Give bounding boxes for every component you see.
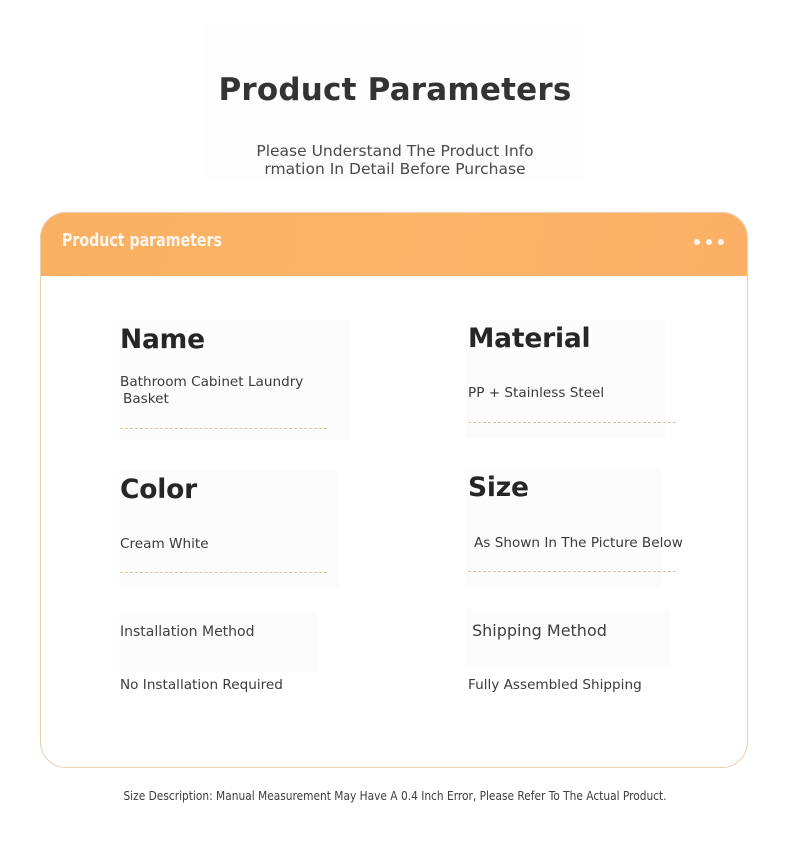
parameter-material-label: Material — [468, 323, 718, 354]
dot-3 — [718, 239, 724, 245]
parameter-installation-method-value-line-1: No Installation Required — [120, 677, 283, 693]
parameter-size-label: Size — [468, 472, 728, 503]
product-parameters-card: Product parameters Name Bathroom Cabinet… — [40, 212, 748, 768]
parameter-name-divider — [120, 428, 327, 429]
parameter-material-value-line-1: PP + Stainless Steel — [468, 385, 604, 401]
parameter-color-divider — [120, 572, 327, 573]
parameter-name-value-line-1: Bathroom Cabinet Laundry — [120, 374, 303, 390]
parameter-installation-method: Installation Method No Installation Requ… — [120, 624, 400, 694]
page-subtitle: Please Understand The Product Info rmati… — [0, 142, 790, 178]
parameter-name-label: Name — [120, 324, 390, 355]
page-title: Product Parameters — [0, 72, 790, 108]
parameter-color-value: Cream White — [120, 536, 390, 553]
parameter-installation-method-label: Installation Method — [120, 624, 400, 640]
parameter-name: Name Bathroom Cabinet Laundry Basket — [120, 324, 390, 429]
parameter-size: Size As Shown In The Picture Below — [468, 472, 728, 572]
dot-2 — [706, 239, 712, 245]
parameter-color-value-line-1: Cream White — [120, 536, 209, 552]
parameter-material-value: PP + Stainless Steel — [468, 385, 718, 402]
parameter-name-value: Bathroom Cabinet Laundry Basket — [120, 374, 390, 408]
parameter-color: Color Cream White — [120, 474, 390, 573]
parameter-installation-method-value: No Installation Required — [120, 677, 400, 694]
parameter-shipping-method-value: Fully Assembled Shipping — [468, 677, 748, 694]
parameter-material: Material PP + Stainless Steel — [468, 323, 718, 423]
parameter-name-value-line-2: Basket — [120, 391, 390, 408]
parameter-shipping-method: Shipping Method Fully Assembled Shipping — [468, 621, 748, 694]
dot-1 — [694, 239, 700, 245]
parameter-grid: Name Bathroom Cabinet Laundry Basket Mat… — [40, 276, 748, 768]
parameter-size-divider — [468, 571, 676, 572]
card-header-title: Product parameters — [62, 231, 222, 251]
parameter-shipping-method-value-line-1: Fully Assembled Shipping — [468, 677, 642, 693]
page-subtitle-line-2: rmation In Detail Before Purchase — [0, 160, 790, 178]
three-dots-icon[interactable] — [694, 239, 724, 245]
cell-background-tint — [119, 612, 317, 672]
parameter-size-value: As Shown In The Picture Below — [468, 535, 728, 552]
parameter-material-divider — [468, 422, 676, 423]
page-header: Product Parameters Please Understand The… — [0, 0, 790, 190]
size-description-note: Size Description: Manual Measurement May… — [16, 789, 774, 803]
page-subtitle-line-1: Please Understand The Product Info — [0, 142, 790, 160]
parameter-shipping-method-label: Shipping Method — [468, 621, 748, 640]
parameter-color-label: Color — [120, 474, 390, 505]
parameter-size-value-line-1: As Shown In The Picture Below — [474, 535, 683, 551]
card-header-bar: Product parameters — [40, 212, 748, 276]
